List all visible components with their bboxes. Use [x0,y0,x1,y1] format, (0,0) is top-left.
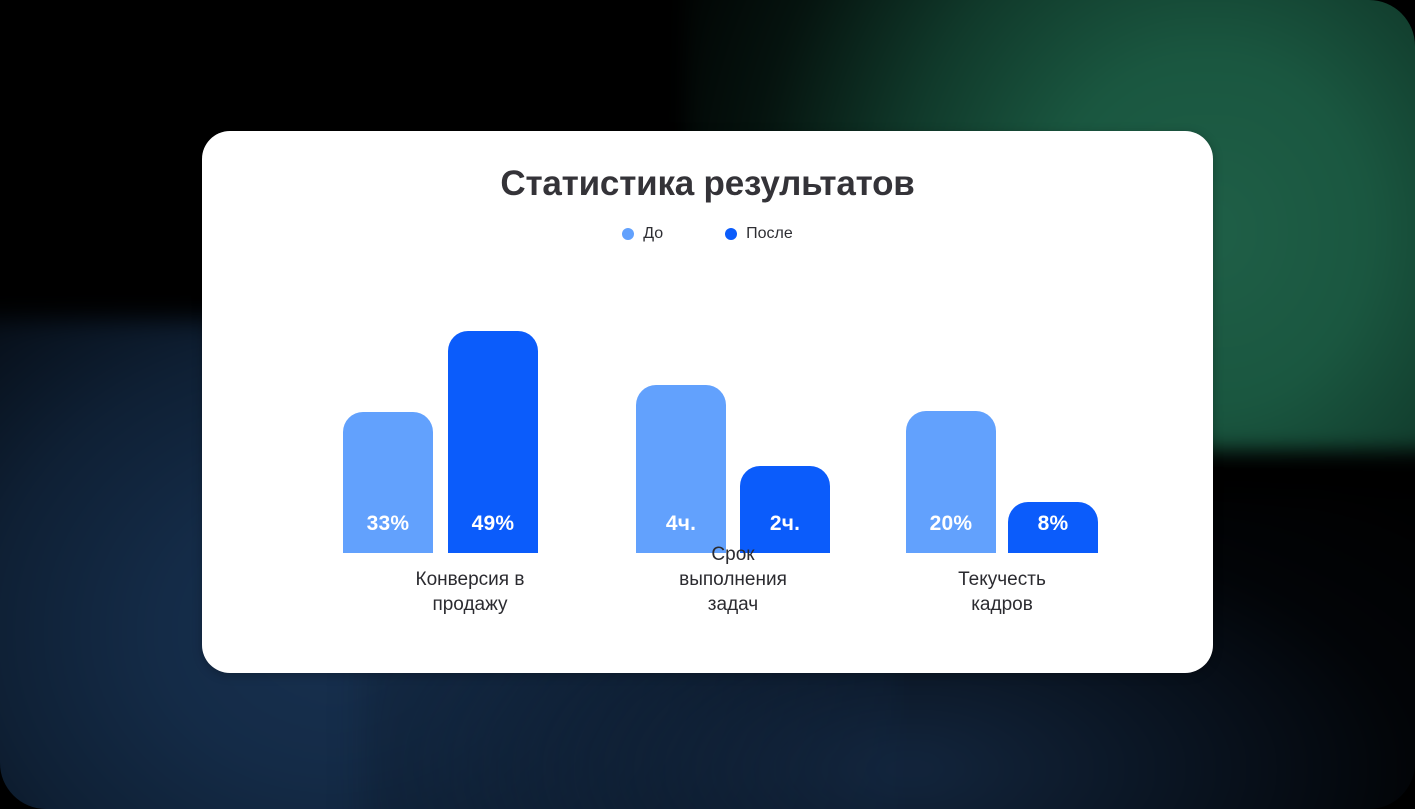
bar-after-conversion[interactable]: 49% [448,331,538,553]
bar-value-before-staff-turnover: 20% [906,512,996,536]
screenshot-root: Статистика результатов До После 33% 49% [0,0,1415,809]
bar-after-task-duration[interactable]: 2ч. [740,466,830,553]
bar-value-before-task-duration: 4ч. [636,512,726,536]
bar-before-conversion[interactable]: 33% [343,412,433,553]
bar-chart-plot-area: 33% 49% Конверсия в продажу 4ч. 2ч. [202,131,1213,673]
bar-before-staff-turnover[interactable]: 20% [906,411,996,553]
bar-before-task-duration[interactable]: 4ч. [636,385,726,553]
bar-value-after-task-duration: 2ч. [740,512,830,536]
chart-card: Статистика результатов До После 33% 49% [202,131,1213,673]
bar-value-after-staff-turnover: 8% [1008,512,1098,536]
bar-group-staff-turnover: 20% 8% Текучесть кадров [906,131,1098,673]
bar-value-after-conversion: 49% [448,512,538,536]
bar-group-conversion: 33% 49% Конверсия в продажу [343,131,597,673]
bar-value-before-conversion: 33% [343,512,433,536]
bar-after-staff-turnover[interactable]: 8% [1008,502,1098,553]
category-label-task-duration: Срок выполнения задач [679,542,787,617]
bar-group-task-duration: 4ч. 2ч. Срок выполнения задач [636,131,830,673]
category-label-conversion: Конверсия в продажу [407,567,534,617]
category-label-staff-turnover: Текучесть кадров [954,567,1050,617]
